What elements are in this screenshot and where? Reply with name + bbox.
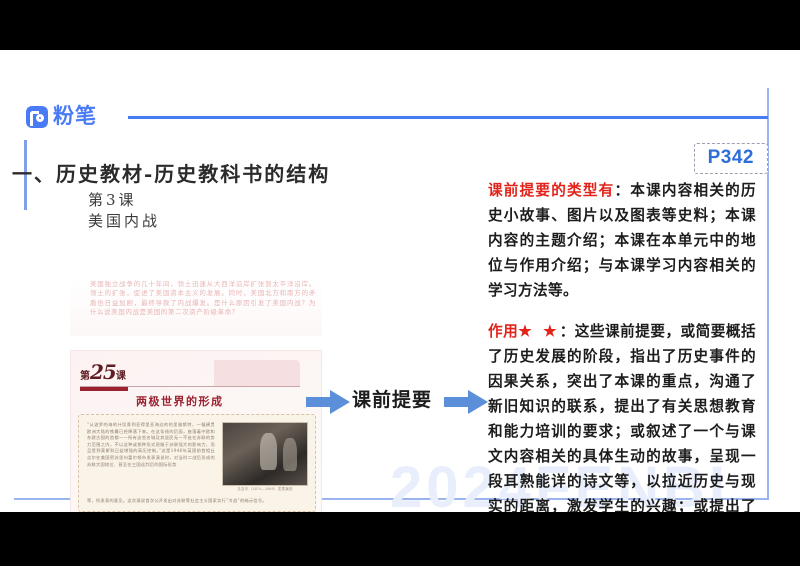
- lesson-prefix: 第: [80, 371, 90, 382]
- function-body: ：这些课前提要，或简要概括了历史发展的阶段，指出了历史事件的因果关系，突出了本课…: [488, 323, 756, 512]
- slide-stage: 2024FENBI 粉笔 一、历史教材-历史教科书的结构 P342 第3课 美国…: [0, 0, 800, 566]
- textbook-scan-paragraph: 美国独立战争的几十年间，领土迅速从大西洋沿岸扩张到太平洋沿岸。领土的扩张，促进了…: [70, 278, 322, 336]
- arrow-right-icon: [306, 389, 350, 415]
- textbook-lesson-number: 第25课: [80, 360, 126, 384]
- historic-photo: [223, 423, 307, 485]
- function-highlight: 作用: [488, 323, 518, 340]
- types-highlight: 课前提要的类型有: [488, 182, 615, 199]
- slide-canvas: 2024FENBI 粉笔 一、历史教材-历史教科书的结构 P342 第3课 美国…: [0, 50, 800, 512]
- lesson-number: 第3课: [88, 190, 160, 211]
- header-divider: [128, 116, 768, 119]
- center-label: 课前提要: [352, 385, 432, 412]
- lesson-digits: 25: [90, 360, 116, 384]
- excerpt-text: “从波罗的海的什切青到亚得里亚海边的的里雅斯特，一幅横贯欧洲大陆的铁幕已经降落下…: [87, 422, 215, 468]
- lesson-heading: 第3课 美国内战: [88, 190, 160, 232]
- excerpt-footer-text: 等，所发表的意见。这次演说首次公开发出对苏联等社会主义国家实行“冷战”的暗示信号…: [87, 498, 307, 505]
- textbook-dash: [80, 387, 128, 391]
- explanation-column: 课前提要的类型有：本课内容相关的历史小故事、图片以及图表等史料；本课内容的主题介…: [488, 178, 756, 512]
- paragraph-function: 作用★ ★：这些课前提要，或简要概括了历史发展的阶段，指出了历史事件的因果关系，…: [488, 319, 756, 512]
- page-number-text: P342: [708, 147, 754, 168]
- lesson-suffix: 课: [116, 371, 126, 382]
- cloud-ornament-icon: [214, 360, 300, 386]
- textbook-excerpt-box: “从波罗的海的什切青到亚得里亚海边的的里雅斯特，一幅横贯欧洲大陆的铁幕已经降落下…: [78, 414, 316, 512]
- page-title-text: 一、历史教材-历史教科书的结构: [12, 158, 330, 187]
- fenbi-logo-icon: [26, 106, 48, 128]
- textbook-lesson-title: 两极世界的形成: [136, 393, 224, 409]
- star-rating-icon: ★ ★: [518, 322, 559, 340]
- types-body: ：本课内容相关的历史小故事、图片以及图表等史料；本课内容的主题介绍；本课在本单元…: [488, 182, 756, 299]
- paragraph-types: 课前提要的类型有：本课内容相关的历史小故事、图片以及图表等史料；本课内容的主题介…: [488, 178, 756, 303]
- scan-paragraph-text: 美国独立战争的几十年间，领土迅速从大西洋沿岸扩张到太平洋沿岸。领土的扩张，促进了…: [70, 278, 322, 318]
- brand-name: 粉笔: [53, 106, 97, 128]
- arrow-right-icon-2: [444, 389, 488, 415]
- page-number-badge: P342: [694, 143, 768, 174]
- brand-logo[interactable]: 粉笔: [26, 106, 97, 128]
- lesson-name: 美国内战: [88, 211, 160, 232]
- textbook-page-image: 第25课 两极世界的形成 “从波罗的海的什切青到亚得里亚海边的的里雅斯特，一幅横…: [70, 350, 322, 512]
- photo-caption: 丘吉尔（1874—1965）发表演说: [223, 487, 307, 492]
